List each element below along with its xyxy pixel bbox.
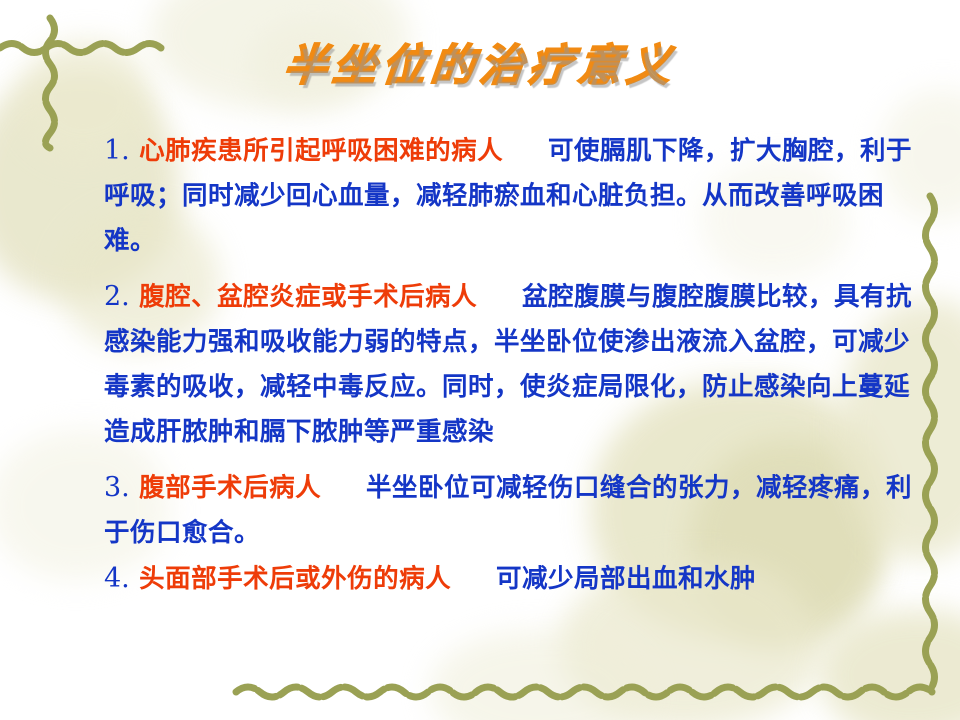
list-item: 3. 腹部手术后病人 半坐卧位可减轻伤口缝合的张力，减轻疼痛，利于伤口愈合。: [104, 465, 916, 556]
body-content: 1. 心肺疾患所引起呼吸困难的病人 可使膈肌下降，扩大胸腔，利于呼吸；同时减少回…: [104, 128, 916, 602]
list-item-number: 2.: [104, 281, 130, 312]
list-item-number: 1.: [104, 135, 130, 166]
bamboo-left-vertical-stroke: [34, 18, 68, 142]
list-item-number: 4.: [104, 563, 130, 594]
title-block: 半坐位的治疗意义: [0, 44, 960, 89]
page-title: 半坐位的治疗意义: [282, 44, 679, 89]
bamboo-right-vertical-stroke: [914, 196, 948, 696]
list-item-lead: 心肺疾患所引起呼吸困难的病人: [139, 136, 503, 166]
list-item: 1. 心肺疾患所引起呼吸困难的病人 可使膈肌下降，扩大胸腔，利于呼吸；同时减少回…: [104, 128, 916, 264]
watermark-blob: [150, 0, 410, 110]
bamboo-bottom-horizontal-stroke: [236, 676, 948, 706]
list-item-body: 可减少局部出血和水肿: [496, 564, 756, 594]
list-item-number: 3.: [104, 472, 130, 503]
slide-canvas: 半坐位的治疗意义 1. 心肺疾患所引起呼吸困难的病人 可使膈肌下降，扩大胸腔，利…: [0, 0, 960, 720]
list-item-lead: 头面部手术后或外伤的病人: [139, 564, 451, 594]
list-item-lead: 腹部手术后病人: [139, 473, 321, 503]
watermark-blob: [820, 610, 960, 720]
bamboo-top-horizontal-stroke: [0, 32, 200, 62]
watermark-blob: [250, 20, 370, 110]
list-item-lead: 腹腔、盆腔炎症或手术后病人: [139, 282, 477, 312]
list-item: 2. 腹腔、盆腔炎症或手术后病人 盆腔腹膜与腹腔腹膜比较，具有抗感染能力强和吸收…: [104, 274, 916, 455]
list-item: 4. 头面部手术后或外伤的病人 可减少局部出血和水肿: [104, 556, 916, 602]
watermark-blob: [430, 630, 650, 720]
